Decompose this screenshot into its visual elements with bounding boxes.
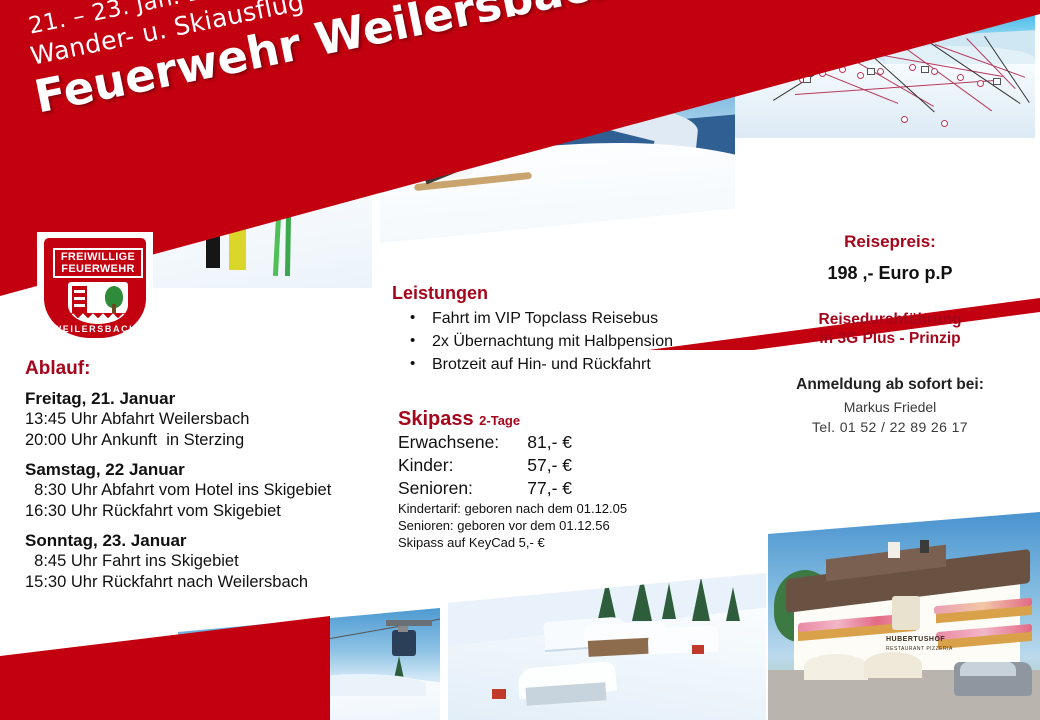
crest-town-name: WEILERSBACH bbox=[44, 324, 146, 334]
schedule-day: Sonntag, 23. Januar 8:45 Uhr Fahrt ins S… bbox=[25, 531, 375, 593]
poster-canvas: HUBERTUSHOF RESTAURANT PIZZERIA 21. – 23… bbox=[0, 0, 1040, 720]
schedule-line: 8:30 Uhr Abfahrt vom Hotel ins Skigebiet bbox=[25, 480, 375, 501]
skipass-row-price: 57,- € bbox=[510, 454, 572, 477]
list-item: Fahrt im VIP Topclass Reisebus bbox=[410, 307, 722, 330]
skipass-row-price: 77,- € bbox=[510, 477, 572, 500]
contact-name: Markus Friedel bbox=[745, 399, 1035, 415]
skipass-note: Kindertarif: geboren nach dem 01.12.05 bbox=[398, 500, 688, 517]
skipass-note: Skipass auf KeyCad 5,- € bbox=[398, 534, 688, 551]
services-block: Leistungen Fahrt im VIP Topclass Reisebu… bbox=[392, 283, 722, 376]
price-value: 198 ,- Euro p.P bbox=[745, 263, 1035, 284]
schedule-block: Ablauf: Freitag, 21. Januar 13:45 Uhr Ab… bbox=[25, 358, 375, 593]
skipass-row-price: 81,- € bbox=[510, 431, 572, 454]
schedule-day-heading: Samstag, 22 Januar bbox=[25, 460, 375, 480]
schedule-line: 20:00 Uhr Ankunft in Sterzing bbox=[25, 430, 375, 451]
skipass-row-label: Senioren: bbox=[398, 477, 510, 500]
table-row: Erwachsene: 81,- € bbox=[398, 431, 688, 454]
skipass-title: Skipass 2-Tage bbox=[398, 408, 688, 431]
schedule-day-heading: Freitag, 21. Januar bbox=[25, 389, 375, 409]
price-and-contact-block: Reisepreis: 198 ,- Euro p.P Reisedurchfü… bbox=[745, 232, 1035, 435]
skipass-row-label: Kinder: bbox=[398, 454, 510, 477]
hotel-name-sign: HUBERTUSHOF bbox=[886, 636, 945, 643]
price-label: Reisepreis: bbox=[745, 232, 1035, 252]
crest-line1: FREIWILLIGE bbox=[55, 251, 141, 263]
schedule-day: Freitag, 21. Januar 13:45 Uhr Abfahrt We… bbox=[25, 389, 375, 451]
signup-label: Anmeldung ab sofort bei: bbox=[745, 376, 1035, 394]
list-item: Brotzeit auf Hin- und Rückfahrt bbox=[410, 353, 722, 376]
contact-phone: Tel. 01 52 / 22 89 26 17 bbox=[745, 419, 1035, 435]
red-bottom-wedge bbox=[0, 600, 330, 720]
list-item: 2x Übernachtung mit Halbpension bbox=[410, 330, 722, 353]
schedule-line: 8:45 Uhr Fahrt ins Skigebiet bbox=[25, 551, 375, 572]
photo-mountain-huts bbox=[448, 573, 766, 720]
skipass-title-main: Skipass bbox=[398, 408, 474, 430]
covid-rule-line2: in 3G Plus - Prinzip bbox=[745, 329, 1035, 348]
crest-line2: FEUERWEHR bbox=[55, 263, 141, 275]
skipass-title-suffix: 2-Tage bbox=[479, 413, 520, 428]
crest-coat-of-arms-icon bbox=[68, 282, 128, 324]
table-row: Kinder: 57,- € bbox=[398, 454, 688, 477]
fire-brigade-crest-logo: FREIWILLIGE FEUERWEHR WEILERSBACH bbox=[37, 232, 153, 344]
schedule-line: 16:30 Uhr Rückfahrt vom Skigebiet bbox=[25, 501, 375, 522]
covid-rule-line1: Reisedurchführung bbox=[745, 310, 1035, 329]
photo-hotel-hubertushof: HUBERTUSHOF RESTAURANT PIZZERIA bbox=[768, 512, 1040, 720]
services-list: Fahrt im VIP Topclass Reisebus 2x Überna… bbox=[392, 307, 722, 376]
schedule-line: 15:30 Uhr Rückfahrt nach Weilersbach bbox=[25, 572, 375, 593]
skipass-note: Senioren: geboren vor dem 01.12.56 bbox=[398, 517, 688, 534]
schedule-title: Ablauf: bbox=[25, 358, 375, 380]
table-row: Senioren: 77,- € bbox=[398, 477, 688, 500]
schedule-line: 13:45 Uhr Abfahrt Weilersbach bbox=[25, 409, 375, 430]
services-title: Leistungen bbox=[392, 283, 722, 304]
schedule-day-heading: Sonntag, 23. Januar bbox=[25, 531, 375, 551]
schedule-day: Samstag, 22 Januar 8:30 Uhr Abfahrt vom … bbox=[25, 460, 375, 522]
skipass-row-label: Erwachsene: bbox=[398, 431, 510, 454]
skipass-block: Skipass 2-Tage Erwachsene: 81,- € Kinder… bbox=[398, 408, 688, 551]
